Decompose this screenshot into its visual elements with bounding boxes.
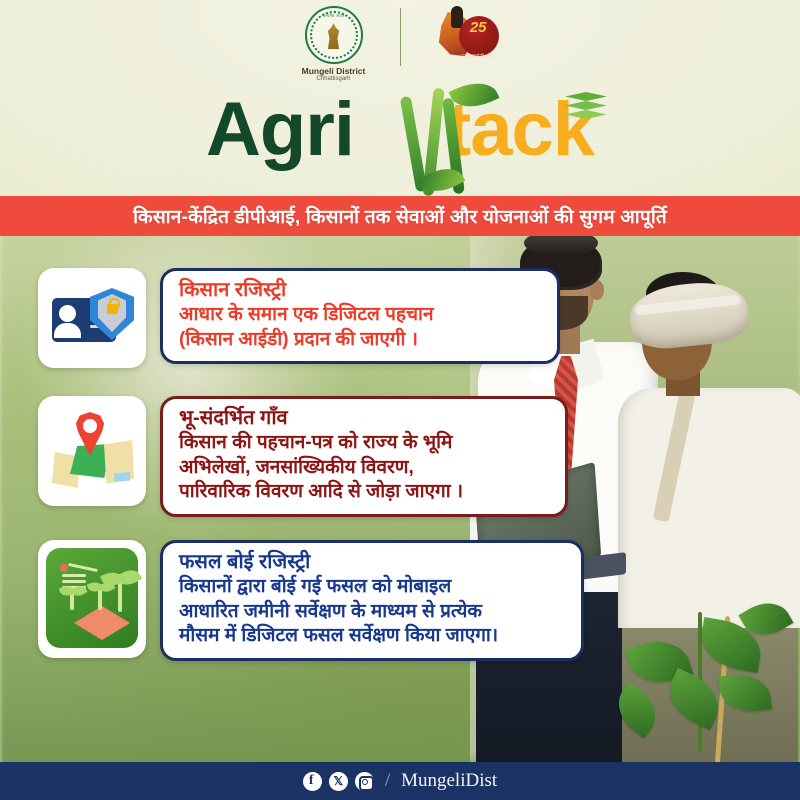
id-photo-face: [59, 305, 76, 322]
jubilee-figure: [451, 6, 463, 28]
crop-icon-background: [46, 548, 138, 648]
x-glyph: 𝕏: [329, 772, 348, 791]
jubilee-number: 25: [470, 19, 487, 36]
padlock-icon: [107, 304, 118, 314]
logo-divider: [400, 8, 401, 66]
plant-leaf: [718, 671, 772, 714]
feature-body-line: किसानों द्वारा बोई गई फसल को मोबाइल: [179, 575, 565, 600]
x-twitter-icon[interactable]: 𝕏: [329, 772, 348, 791]
feature-body-line: अभिलेखों, जनसांख्यिकीय विवरण,: [179, 456, 549, 481]
survey-marker-dot: [60, 564, 68, 572]
instagram-icon[interactable]: [355, 772, 374, 791]
jubilee-badge-icon: 25 रजत जयंती वर्ष: [435, 6, 499, 64]
id-card-shield-lock-icon: [38, 268, 146, 368]
feature-body-line: पारिवारिक विवरण आदि से जोड़ा जाएगा ।: [179, 480, 549, 505]
feature-body-line: आधार के समान एक डिजिटल पहचान: [179, 303, 541, 328]
national-emblem-icon: सत्यमेव जयते: [305, 6, 363, 64]
social-footer: f 𝕏 / MungeliDist: [0, 762, 800, 800]
facebook-glyph: f: [309, 773, 314, 789]
feature-title: फसल बोई रजिस्ट्री: [179, 550, 565, 575]
header-logos: सत्यमेव जयते Mungeli District Chhattisga…: [0, 6, 800, 82]
stack-layers-icon: [565, 92, 607, 126]
emblem-motto: सत्यमेव जयते: [307, 13, 361, 19]
leaf-s-letter-icon: [398, 80, 508, 206]
silver-jubilee-logo: 25 रजत जयंती वर्ष: [419, 6, 515, 64]
feature-title: किसान रजिस्ट्री: [179, 278, 541, 303]
survey-form-lines: [62, 574, 86, 577]
feature-text-box: किसान रजिस्ट्री आधार के समान एक डिजिटल प…: [160, 268, 560, 364]
district-name: Mungeli District: [302, 67, 366, 76]
cotton-plant: [612, 582, 800, 762]
feature-body-line: (किसान आईडी) प्रदान की जाएगी ।: [179, 328, 541, 353]
tagline-text: किसान-केंद्रित डीपीआई, किसानों तक सेवाओं…: [133, 203, 667, 229]
feature-text-box: भू-संदर्भित गाँव किसान की पहचान-पत्र को …: [160, 396, 568, 517]
emblem-lion-capital: [324, 23, 344, 49]
mungeli-district-logo: सत्यमेव जयते Mungeli District Chhattisga…: [286, 6, 382, 82]
poster-canvas: सत्यमेव जयते Mungeli District Chhattisga…: [0, 0, 800, 800]
feature-body-line: मौसम में डिजिटल फसल सर्वेक्षण किया जाएगा…: [179, 624, 565, 649]
feature-title: भू-संदर्भित गाँव: [179, 406, 549, 431]
state-name: Chhattisgarh: [316, 76, 350, 82]
crop-survey-field-icon: [38, 540, 146, 658]
feature-body-line: आधारित जमीनी सर्वेक्षण के माध्यम से प्रत…: [179, 600, 565, 625]
location-pin-hole: [83, 419, 97, 433]
map-location-pin-icon: [38, 396, 146, 506]
map-water-patch: [114, 472, 130, 482]
tagline-banner: किसान-केंद्रित डीपीआई, किसानों तक सेवाओं…: [0, 196, 800, 236]
feature-body-line: किसान की पहचान-पत्र को राज्य के भूमि: [179, 431, 549, 456]
feature-card-crop-sown-registry: फसल बोई रजिस्ट्री किसानों द्वारा बोई गई …: [38, 540, 584, 661]
facebook-icon[interactable]: f: [303, 772, 322, 791]
wordmark-agri: Agri: [206, 87, 354, 172]
survey-arm: [68, 563, 98, 572]
social-handle: MungeliDist: [401, 770, 497, 792]
handle-separator: /: [385, 770, 390, 792]
feature-card-farmer-registry: किसान रजिस्ट्री आधार के समान एक डिजिटल प…: [38, 268, 560, 368]
plant-leaf: [608, 682, 666, 739]
feature-card-georeferenced-village: भू-संदर्भित गाँव किसान की पहचान-पत्र को …: [38, 396, 568, 517]
id-photo-body: [54, 323, 81, 338]
jubilee-caption: रजत जयंती वर्ष: [455, 52, 499, 60]
feature-text-box: फसल बोई रजिस्ट्री किसानों द्वारा बोई गई …: [160, 540, 584, 661]
agristack-wordmark: Agritack: [0, 86, 800, 173]
